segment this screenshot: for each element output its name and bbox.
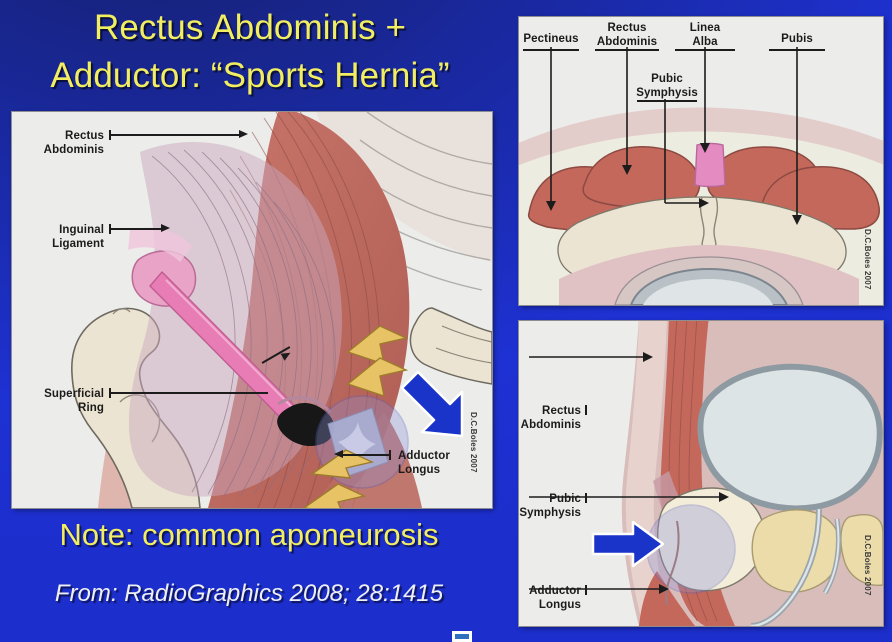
arrowhead-right xyxy=(161,224,170,232)
main-illustration-panel: Rectus Abdominis Inguinal Ligament Super… xyxy=(12,112,492,508)
arrowhead-right xyxy=(239,130,248,138)
slide-source-citation: From: RadioGraphics 2008; 28:1415 xyxy=(0,580,498,608)
artist-credit-axial: D.C.Boles 2007 xyxy=(863,229,872,290)
anterior-pelvis-artwork xyxy=(12,112,492,508)
label-pubic-symphysis-sagittal: Pubic Symphysis xyxy=(519,493,581,520)
label-tick xyxy=(585,493,587,503)
label-rectus-abdominis-axial: Rectus Abdominis xyxy=(593,22,661,49)
label-pectineus: Pectineus xyxy=(521,33,581,47)
label-rectus-abdominis-main: Rectus Abdominis xyxy=(20,130,104,157)
label-linea-alba: Linea Alba xyxy=(673,22,737,49)
blue-pointer-arrow-main xyxy=(392,362,468,440)
label-underline xyxy=(523,49,579,51)
label-underline xyxy=(675,49,735,51)
label-superficial-ring: Superficial Ring xyxy=(12,388,104,415)
arrowhead-left xyxy=(334,450,343,458)
slide-title: Rectus Abdominis + Adductor: “Sports Her… xyxy=(0,4,500,100)
leader-line xyxy=(110,134,240,136)
blue-pointer-arrow-sagittal xyxy=(589,518,667,570)
label-pubic-symphysis-axial: Pubic Symphysis xyxy=(635,73,699,100)
artist-credit-sagittal: D.C.Boles 2007 xyxy=(863,535,872,596)
sagittal-section-panel: Rectus Abdominis Pubic Symphysis Adducto… xyxy=(519,321,883,626)
axial-section-artwork xyxy=(519,17,883,305)
label-tick xyxy=(585,405,587,415)
sagittal-section-artwork xyxy=(519,321,883,626)
leader-line xyxy=(110,392,268,394)
leader-line xyxy=(342,454,390,456)
label-inguinal-ligament: Inguinal Ligament xyxy=(12,224,104,251)
presentation-slide: Rectus Abdominis + Adductor: “Sports Her… xyxy=(0,0,892,642)
leader-line xyxy=(110,228,162,230)
title-line-2: Adductor: “Sports Hernia” xyxy=(0,52,500,100)
label-pubis: Pubis xyxy=(767,33,827,47)
label-underline xyxy=(637,100,697,102)
slide-note-text: Note: common aponeurosis xyxy=(0,517,498,553)
label-tick xyxy=(585,585,587,595)
label-underline xyxy=(595,49,659,51)
label-rectus-abdominis-sagittal: Rectus Abdominis xyxy=(519,405,581,432)
cursor-artifact xyxy=(452,631,472,642)
label-adductor-longus-sagittal: Adductor Longus xyxy=(519,585,581,612)
title-line-1: Rectus Abdominis + xyxy=(0,4,500,52)
label-underline xyxy=(769,49,825,51)
axial-section-panel: Pectineus Rectus Abdominis Linea Alba Pu… xyxy=(519,17,883,305)
artist-credit-main: D.C.Boles 2007 xyxy=(469,412,478,473)
